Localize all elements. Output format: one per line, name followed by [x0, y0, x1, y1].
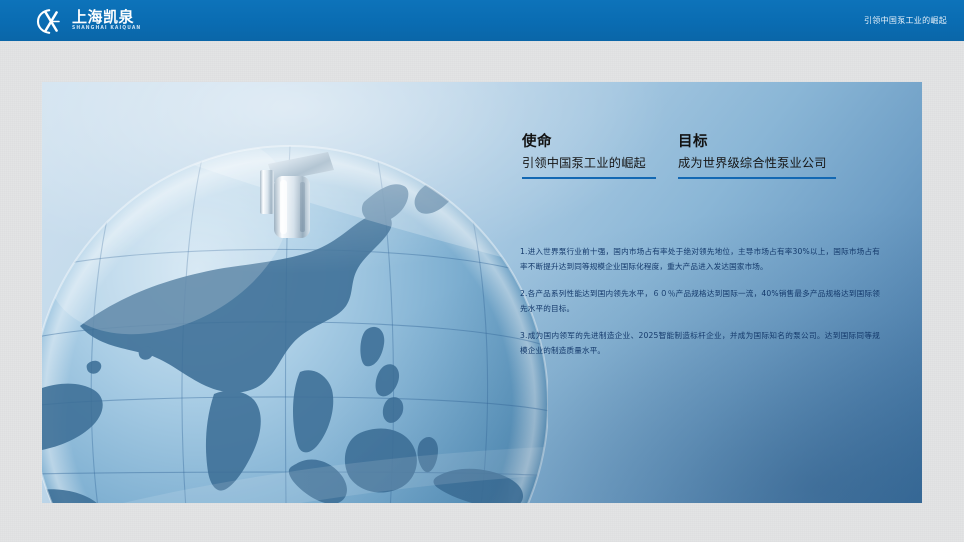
- globe-illustration: [42, 94, 548, 503]
- body-copy: 1.进入世界泵行业前十强，国内市场占有率处于绝对领先地位，主导市场占有率30%以…: [520, 245, 880, 358]
- headings-row: 使命 引领中国泵工业的崛起 目标 成为世界级综合性泵业公司: [522, 135, 858, 179]
- body-paragraph-2: 2.各产品系列性能达到国内领先水平，６０％产品规格达到国际一流，40%销售最多产…: [520, 287, 880, 316]
- slide-panel: 使命 引领中国泵工业的崛起 目标 成为世界级综合性泵业公司 1.进入世界泵行业前…: [42, 82, 922, 503]
- goal-subtitle: 成为世界级综合性泵业公司: [678, 157, 858, 169]
- header-tagline: 引领中国泵工业的崛起: [864, 0, 947, 41]
- goal-underline: [678, 177, 836, 179]
- mission-title: 使命: [522, 135, 678, 150]
- brand-logo[interactable]: 上海凯泉 SHANGHAI KAIQUAN: [36, 7, 141, 35]
- goal-title: 目标: [678, 135, 858, 150]
- mission-subtitle: 引领中国泵工业的崛起: [522, 157, 678, 169]
- kaiquan-logo-icon: [36, 8, 66, 35]
- body-paragraph-3: 3.成为国内领军的先进制造企业、2025智能制造标杆企业，并成为国际知名的泵公司…: [520, 329, 880, 358]
- heading-block-goal: 目标 成为世界级综合性泵业公司: [678, 135, 858, 179]
- brand-text: 上海凯泉 SHANGHAI KAIQUAN: [72, 10, 141, 32]
- brand-name-cn: 上海凯泉: [72, 10, 141, 25]
- header-bar: 上海凯泉 SHANGHAI KAIQUAN 引领中国泵工业的崛起: [0, 0, 964, 41]
- heading-block-mission: 使命 引领中国泵工业的崛起: [522, 135, 678, 179]
- mission-underline: [522, 177, 656, 179]
- body-paragraph-1: 1.进入世界泵行业前十强，国内市场占有率处于绝对领先地位，主导市场占有率30%以…: [520, 245, 880, 274]
- brand-name-en: SHANGHAI KAIQUAN: [72, 27, 141, 32]
